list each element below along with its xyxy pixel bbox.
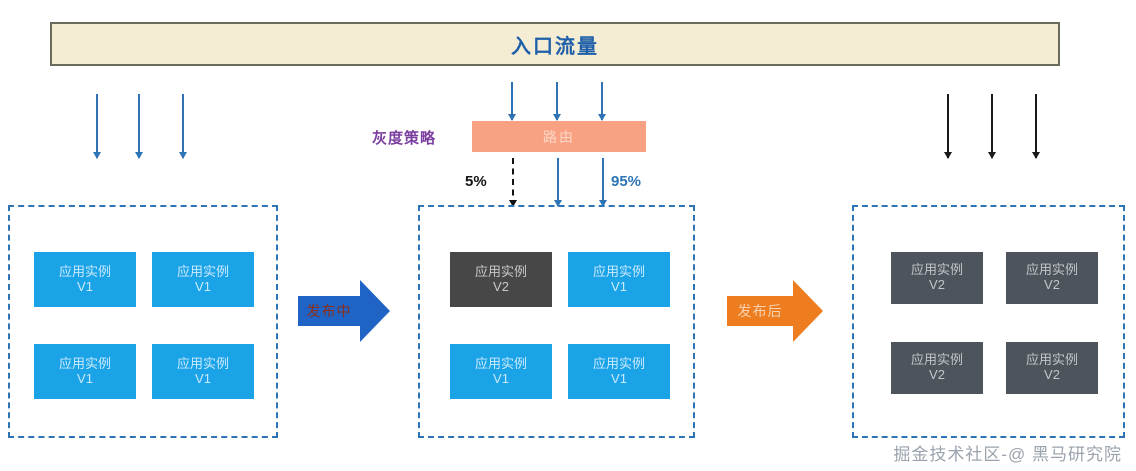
instance-name: 应用实例: [593, 357, 645, 372]
arrow-head: [944, 152, 952, 159]
instance-name: 应用实例: [911, 263, 963, 278]
stable-split-arrow-2: [602, 158, 604, 206]
instance-card[interactable]: 应用实例 V1: [152, 344, 254, 399]
instance-card[interactable]: 应用实例 V2: [891, 252, 983, 304]
transition-arrow-releasing: 发布中: [298, 280, 390, 342]
arrow-head: [135, 152, 143, 159]
ingress-traffic-label: 入口流量: [511, 30, 599, 59]
transition-label: 发布中: [298, 301, 360, 321]
transition-label: 发布后: [727, 301, 793, 321]
instance-group-before-release: 应用实例 V1 应用实例 V1 应用实例 V1 应用实例 V1: [8, 205, 278, 438]
instance-name: 应用实例: [59, 357, 111, 372]
instance-version: V2: [929, 368, 945, 383]
instance-version: V1: [77, 280, 93, 295]
arrow-head: [360, 280, 390, 342]
instance-name: 应用实例: [475, 265, 527, 280]
watermark: 掘金技术社区-@ 黑马研究院: [893, 440, 1122, 465]
arrow-head: [553, 114, 561, 121]
gray-release-strategy-label: 灰度策略: [372, 127, 436, 148]
arrow-head: [1032, 152, 1040, 159]
arrow-body: 发布后: [727, 296, 793, 326]
arrow-head: [793, 280, 823, 342]
instance-card[interactable]: 应用实例 V1: [152, 252, 254, 307]
instance-version: V1: [195, 280, 211, 295]
traffic-arrow-left-2: [138, 94, 140, 158]
canary-release-diagram: 入口流量 灰度策略 路由: [0, 0, 1136, 471]
instance-card[interactable]: 应用实例 V2: [891, 342, 983, 394]
instance-card[interactable]: 应用实例 V1: [450, 344, 552, 399]
instance-card[interactable]: 应用实例 V1: [568, 344, 670, 399]
instance-version: V1: [611, 280, 627, 295]
router-label: 路由: [543, 127, 575, 147]
ingress-traffic-banner: 入口流量: [50, 22, 1060, 66]
instance-name: 应用实例: [177, 357, 229, 372]
canary-split-arrow: [512, 158, 514, 206]
arrow-shaft: [138, 94, 140, 158]
instance-name: 应用实例: [911, 353, 963, 368]
router-box: 路由: [472, 121, 646, 152]
traffic-arrow-right-2: [991, 94, 993, 158]
arrow-shaft: [1035, 94, 1037, 158]
instance-card[interactable]: 应用实例 V1: [34, 252, 136, 307]
instance-version: V1: [195, 372, 211, 387]
arrow-shaft: [512, 158, 514, 206]
traffic-arrow-right-3: [1035, 94, 1037, 158]
instance-name: 应用实例: [1026, 353, 1078, 368]
arrow-shaft: [96, 94, 98, 158]
traffic-arrow-router-2: [556, 82, 558, 120]
arrow-shaft: [991, 94, 993, 158]
instance-version: V2: [1044, 368, 1060, 383]
instance-card[interactable]: 应用实例 V1: [34, 344, 136, 399]
traffic-arrow-left-3: [182, 94, 184, 158]
traffic-arrow-left-1: [96, 94, 98, 158]
arrow-head: [179, 152, 187, 159]
instance-card[interactable]: 应用实例 V2: [450, 252, 552, 307]
traffic-arrow-router-3: [601, 82, 603, 120]
arrow-shaft: [947, 94, 949, 158]
arrow-head: [93, 152, 101, 159]
arrow-head: [988, 152, 996, 159]
instance-name: 应用实例: [59, 265, 111, 280]
arrow-body: 发布中: [298, 296, 360, 326]
instance-card[interactable]: 应用实例 V1: [568, 252, 670, 307]
stable-split-arrow-1: [557, 158, 559, 206]
arrow-head: [508, 114, 516, 121]
transition-arrow-released: 发布后: [727, 280, 823, 342]
arrow-shaft: [182, 94, 184, 158]
instance-name: 应用实例: [475, 357, 527, 372]
instance-name: 应用实例: [593, 265, 645, 280]
instance-version: V1: [611, 372, 627, 387]
instance-group-during-release: 应用实例 V2 应用实例 V1 应用实例 V1 应用实例 V1: [418, 205, 695, 438]
stable-percent-label: 95%: [611, 173, 641, 190]
instance-name: 应用实例: [177, 265, 229, 280]
instance-group-after-release: 应用实例 V2 应用实例 V2 应用实例 V2 应用实例 V2: [852, 205, 1125, 438]
instance-card[interactable]: 应用实例 V2: [1006, 252, 1098, 304]
instance-version: V2: [1044, 278, 1060, 293]
traffic-arrow-right-1: [947, 94, 949, 158]
instance-card[interactable]: 应用实例 V2: [1006, 342, 1098, 394]
instance-version: V1: [493, 372, 509, 387]
instance-version: V1: [77, 372, 93, 387]
arrow-shaft: [557, 158, 559, 206]
traffic-arrow-router-1: [511, 82, 513, 120]
canary-percent-label: 5%: [465, 173, 487, 190]
arrow-shaft: [602, 158, 604, 206]
instance-version: V2: [493, 280, 509, 295]
instance-version: V2: [929, 278, 945, 293]
instance-name: 应用实例: [1026, 263, 1078, 278]
arrow-head: [598, 114, 606, 121]
